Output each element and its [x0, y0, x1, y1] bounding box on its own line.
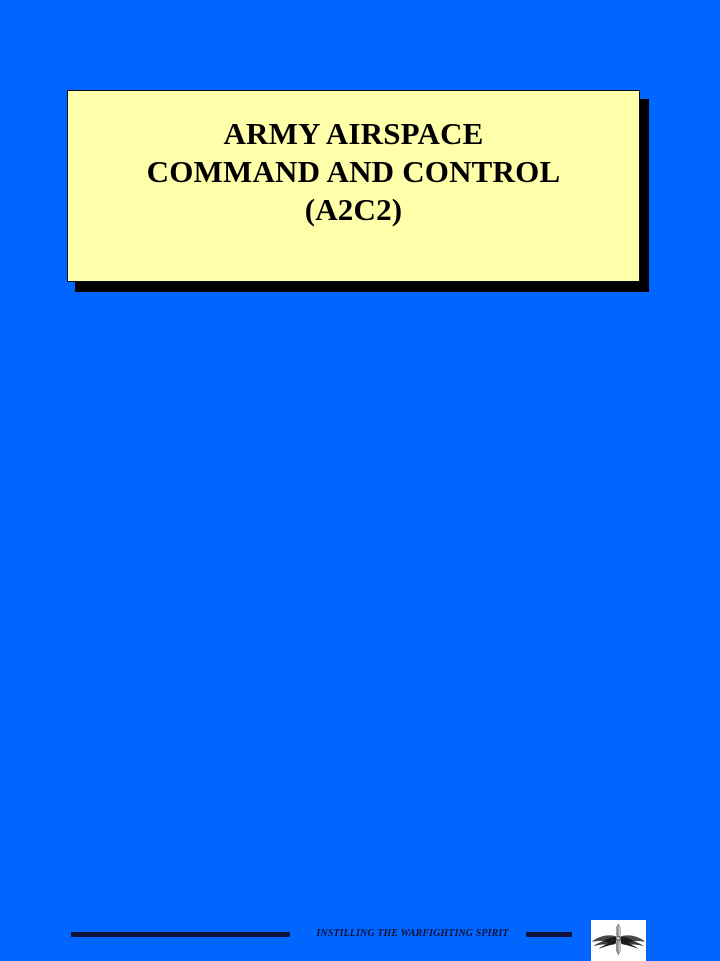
title-line-2: COMMAND AND CONTROL: [68, 153, 639, 191]
branch-insignia-box: [591, 920, 646, 961]
title-line-3: (A2C2): [68, 191, 639, 229]
footer-rule-left: [71, 932, 290, 937]
page-title: ARMY AIRSPACE COMMAND AND CONTROL (A2C2): [68, 115, 639, 229]
footer-rule-right: [526, 932, 572, 937]
army-aviation-branch-insignia-icon: [591, 920, 646, 961]
slide-footer: INSTILLING THE WARFIGHTING SPIRIT: [0, 455, 720, 515]
slide-canvas: ARMY AIRSPACE COMMAND AND CONTROL (A2C2)…: [0, 0, 720, 540]
title-box: ARMY AIRSPACE COMMAND AND CONTROL (A2C2): [67, 90, 640, 282]
title-line-1: ARMY AIRSPACE: [68, 115, 639, 153]
footer-tagline: INSTILLING THE WARFIGHTING SPIRIT: [310, 928, 515, 939]
